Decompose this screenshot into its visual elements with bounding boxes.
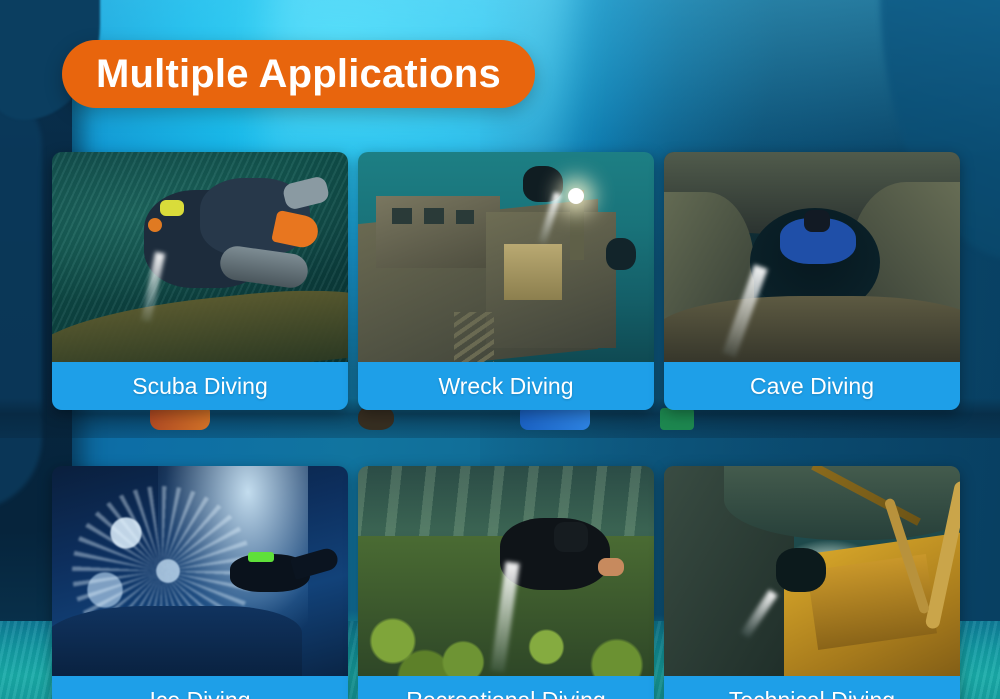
diver-head: [554, 522, 588, 552]
photo-technical-diving: [664, 466, 960, 676]
page-title: Multiple Applications: [96, 52, 501, 97]
photo-ice-diving: [52, 466, 348, 676]
card-wreck-diving[interactable]: Wreck Diving: [358, 152, 654, 410]
photo-recreational-diving: [358, 466, 654, 676]
card-recreational-diving[interactable]: Recreational Diving: [358, 466, 654, 699]
title-badge: Multiple Applications: [62, 40, 535, 108]
wreck-window: [456, 210, 474, 224]
diver-body: [776, 548, 826, 592]
card-label: Recreational Diving: [406, 687, 605, 699]
diver-head: [804, 210, 830, 232]
photo-scuba-diving: [52, 152, 348, 362]
photo-wreck-diving: [358, 152, 654, 362]
application-grid: Scuba Diving: [52, 152, 964, 699]
grid-row-2: Ice Diving Recreational Diving: [52, 466, 964, 699]
wreck-window: [424, 208, 444, 224]
ice-ledge: [52, 606, 302, 676]
card-cave-diving[interactable]: Cave Diving: [664, 152, 960, 410]
card-label-bar: Cave Diving: [664, 362, 960, 410]
card-label: Technical Diving: [729, 687, 895, 699]
card-ice-diving[interactable]: Ice Diving: [52, 466, 348, 699]
cave-floor: [664, 296, 960, 362]
card-technical-diving[interactable]: Technical Diving: [664, 466, 960, 699]
wreck-window: [392, 208, 412, 224]
card-label: Scuba Diving: [132, 373, 268, 400]
diver-green-accent: [248, 552, 274, 562]
wreck-lit-panel: [504, 244, 562, 300]
dive-mask: [160, 200, 184, 216]
card-label-bar: Recreational Diving: [358, 676, 654, 699]
gauge-dial: [148, 218, 162, 232]
infographic-canvas: Multiple Applications Scuba D: [0, 0, 1000, 699]
card-label-bar: Scuba Diving: [52, 362, 348, 410]
wreck-stairs: [454, 312, 494, 362]
wreck-deckhouse: [376, 196, 500, 268]
card-label: Wreck Diving: [438, 373, 573, 400]
diver-hand: [598, 558, 624, 576]
photo-cave-diving: [664, 152, 960, 362]
rock-left-secondary: [0, 90, 42, 510]
grid-row-1: Scuba Diving: [52, 152, 964, 410]
card-scuba-diving[interactable]: Scuba Diving: [52, 152, 348, 410]
card-label: Ice Diving: [150, 687, 251, 699]
card-label-bar: Ice Diving: [52, 676, 348, 699]
card-label-bar: Technical Diving: [664, 676, 960, 699]
card-label: Cave Diving: [750, 373, 874, 400]
card-label-bar: Wreck Diving: [358, 362, 654, 410]
dive-lamp: [568, 188, 584, 204]
diver-secondary: [606, 238, 636, 270]
